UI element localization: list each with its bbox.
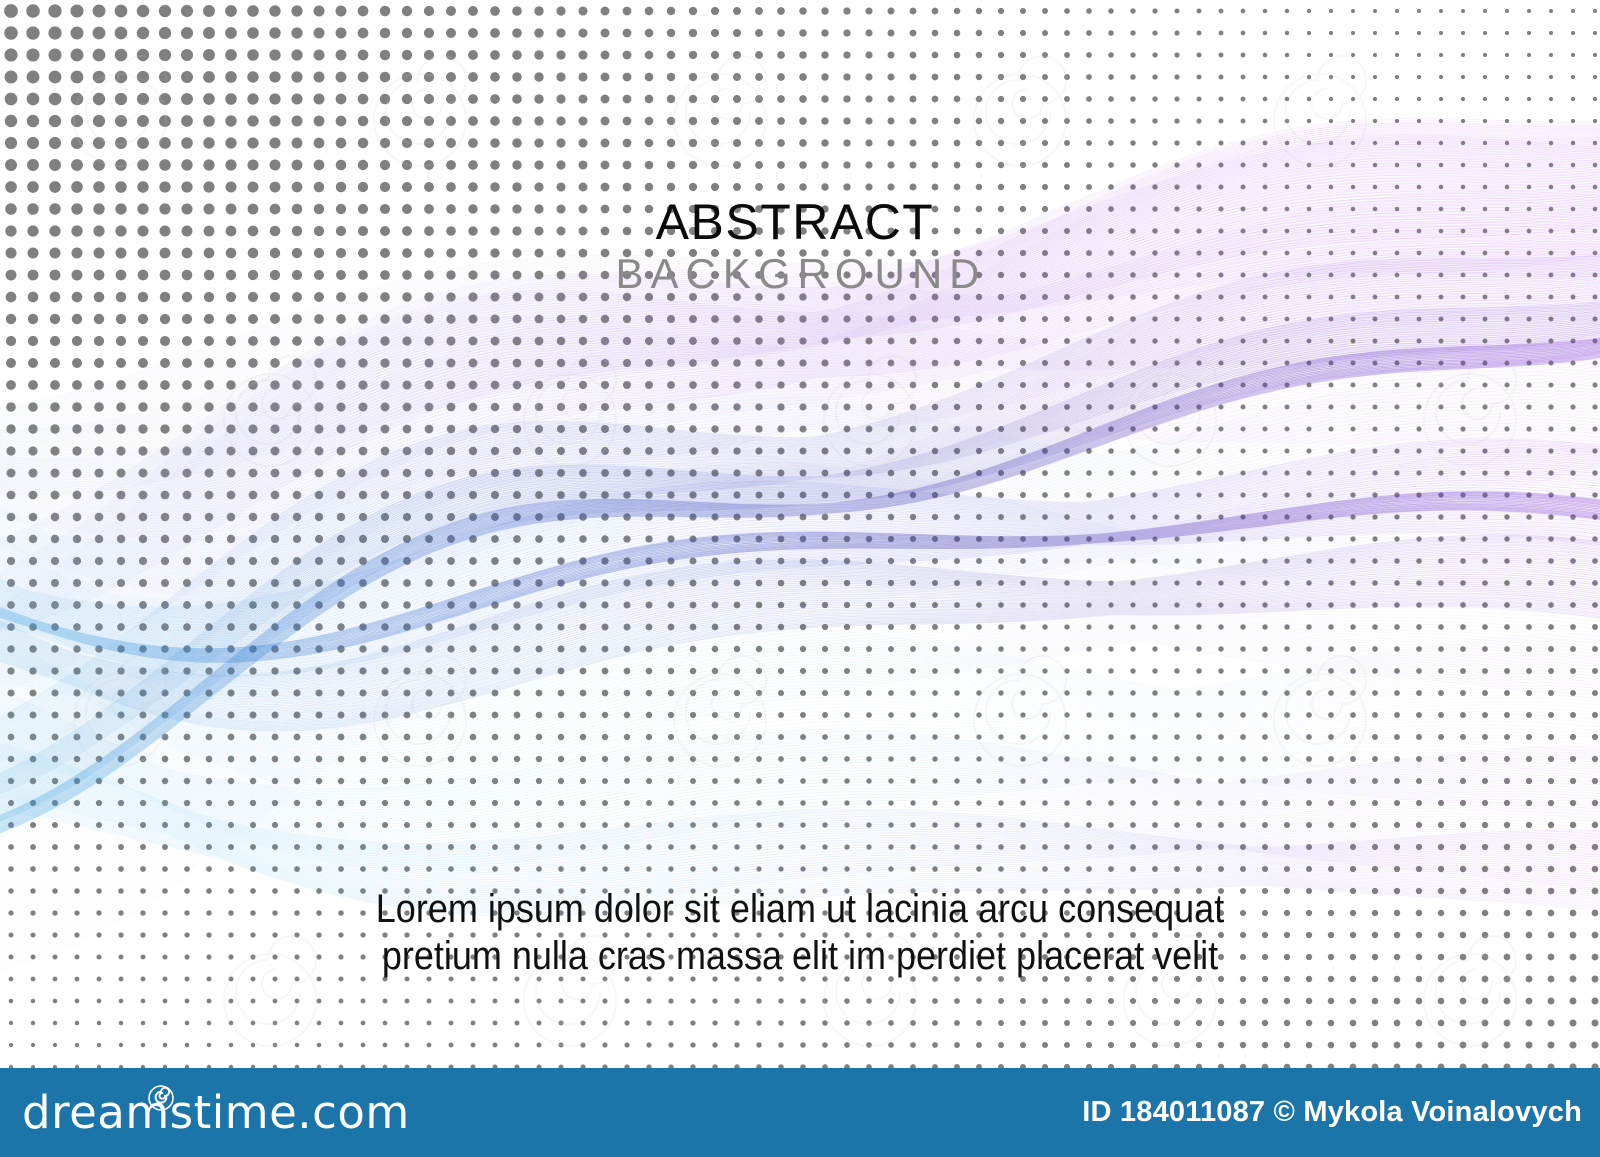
dreamstime-logo-text: dreamstime.com [22,1088,410,1137]
image-canvas: ABSTRACT BACKGROUND Lorem ipsum dolor si… [0,0,1600,1157]
dreamstime-spiral-icon [148,1085,174,1111]
image-credit: ID 184011087 © Mykola Voinalovych [1082,1068,1582,1157]
stock-watermark-overlay [0,0,1600,1068]
